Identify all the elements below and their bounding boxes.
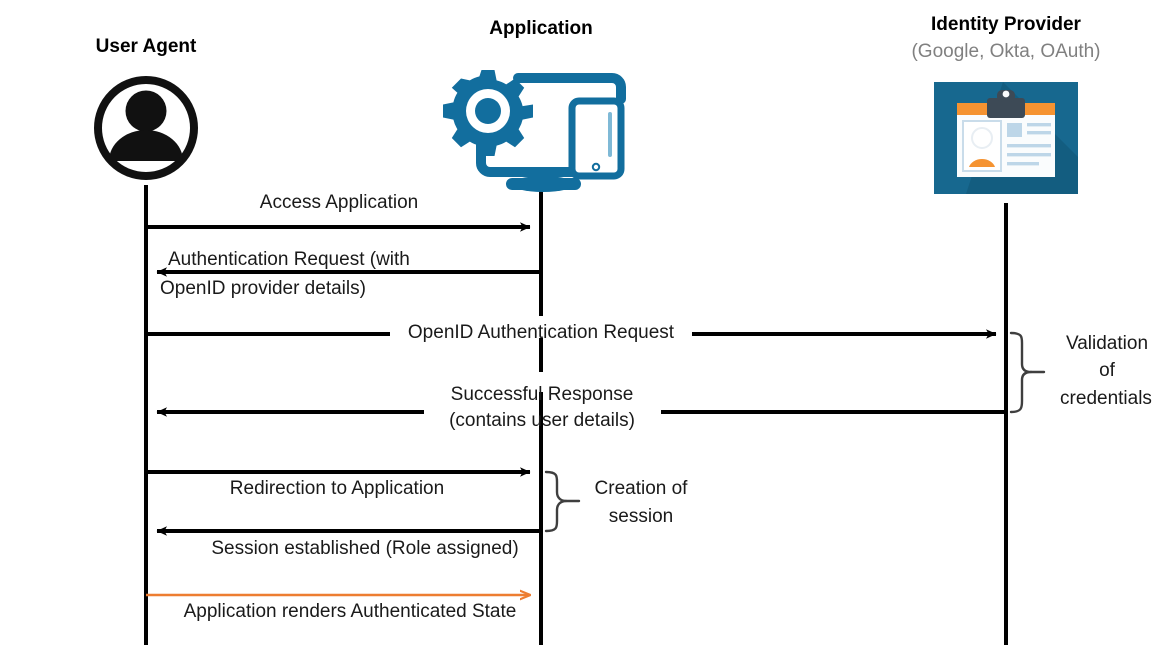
message-label-access-application: Access Application [194, 192, 484, 214]
brace-creation-of-session [546, 472, 579, 531]
lane-title-application: Application [441, 18, 641, 40]
message-label-successful-response-line2: (contains user details) [392, 410, 692, 432]
application-devices-icon [443, 70, 621, 192]
message-label-authentication-request-line2: OpenID provider details) [160, 278, 610, 300]
id-badge-icon [934, 82, 1078, 194]
note-session-line1: Creation of [576, 478, 706, 501]
note-validation-line2: of [1043, 360, 1171, 383]
user-avatar-icon [98, 80, 194, 176]
message-label-session-established: Session established (Role assigned) [155, 538, 575, 560]
message-label-redirection-to-application: Redirection to Application [187, 478, 487, 500]
note-validation-line1: Validation [1043, 333, 1171, 356]
note-validation-line3: credentials [1039, 388, 1173, 411]
lane-title-identity-provider: Identity Provider [906, 14, 1106, 36]
note-session-line2: session [576, 506, 706, 529]
message-label-application-renders-authenticated-state: Application renders Authenticated State [140, 601, 560, 623]
message-label-authentication-request-line1: Authentication Request (with [168, 249, 618, 271]
message-label-successful-response-line1: Successful Response [392, 384, 692, 406]
message-label-openid-authentication-request: OpenID Authentication Request [391, 322, 691, 344]
lane-title-user-agent: User Agent [46, 36, 246, 58]
lane-subtitle-identity-provider: (Google, Okta, OAuth) [896, 41, 1116, 63]
